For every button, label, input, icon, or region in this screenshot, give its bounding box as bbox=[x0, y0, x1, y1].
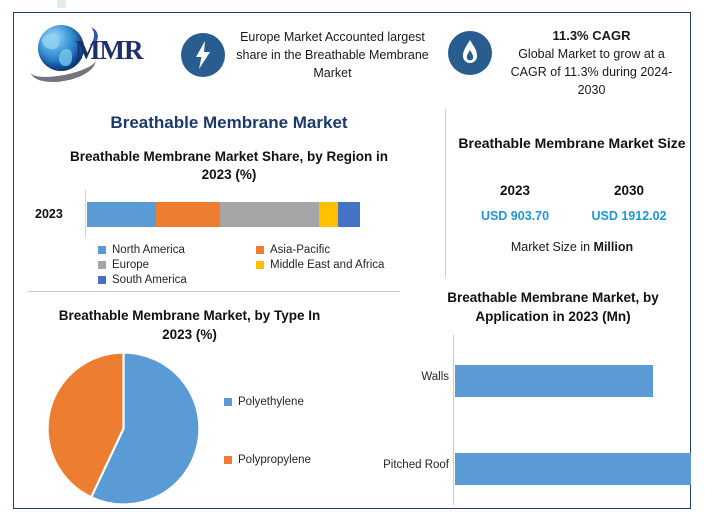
legend-label: Europe bbox=[112, 259, 149, 271]
vertical-divider bbox=[445, 109, 446, 277]
type-chart-title: Breathable Membrane Market, by Type In 2… bbox=[42, 307, 337, 345]
market-size-value-2023: USD 903.70 bbox=[458, 209, 572, 223]
region-segment bbox=[156, 202, 219, 227]
lightning-badge bbox=[181, 33, 225, 77]
application-bar-pitched-roof bbox=[455, 453, 691, 485]
mmr-logo: MMR bbox=[28, 21, 170, 77]
region-segment bbox=[338, 202, 360, 227]
type-legend: Polyethylene Polypropylene bbox=[224, 396, 311, 512]
market-size-unit-note: Market Size in Million bbox=[458, 240, 686, 254]
market-size-values: USD 903.70 USD 1912.02 bbox=[458, 209, 686, 223]
market-size-year-2030: 2030 bbox=[572, 183, 686, 198]
legend-item-south-america: South America bbox=[98, 274, 256, 286]
legend-label: Middle East and Africa bbox=[270, 259, 384, 271]
header-note-europe: Europe Market Accounted largest share in… bbox=[233, 29, 432, 82]
application-chart-plot: Walls Pitched Roof bbox=[453, 335, 694, 505]
legend-label: Asia-Pacific bbox=[270, 244, 330, 256]
cagr-heading: 11.3% CAGR bbox=[500, 27, 683, 45]
region-segment bbox=[87, 202, 156, 227]
header-band: MMR Europe Market Accounted largest shar… bbox=[14, 13, 690, 91]
application-bar-walls bbox=[455, 365, 653, 397]
legend-swatch-icon bbox=[98, 246, 106, 254]
market-size-year-2023: 2023 bbox=[458, 183, 572, 198]
infographic-frame: MMR Europe Market Accounted largest shar… bbox=[13, 12, 691, 509]
market-size-title: Breathable Membrane Market Size bbox=[458, 133, 686, 153]
legend-label: Polypropylene bbox=[238, 454, 311, 466]
page-title: Breathable Membrane Market bbox=[14, 113, 444, 133]
legend-row: Europe Middle East and Africa bbox=[98, 259, 428, 271]
legend-item-polyethylene: Polyethylene bbox=[224, 396, 311, 408]
type-pie-chart bbox=[46, 351, 201, 506]
legend-swatch-icon bbox=[224, 456, 232, 464]
legend-label: Polyethylene bbox=[238, 396, 304, 408]
cagr-badge bbox=[448, 31, 492, 75]
market-size-unit-prefix: Market Size in bbox=[511, 240, 594, 254]
legend-swatch-icon bbox=[256, 261, 264, 269]
legend-swatch-icon bbox=[224, 398, 232, 406]
top-artifact bbox=[57, 0, 66, 8]
region-segment bbox=[220, 202, 319, 227]
region-chart-plot bbox=[85, 190, 366, 238]
legend-item-asia-pacific: Asia-Pacific bbox=[256, 244, 330, 256]
application-chart-title: Breathable Membrane Market, by Applicati… bbox=[414, 289, 692, 327]
region-axis-category: 2023 bbox=[35, 207, 63, 221]
legend-swatch-icon bbox=[98, 276, 106, 284]
legend-row: North America Asia-Pacific bbox=[98, 244, 428, 256]
application-category-walls: Walls bbox=[421, 371, 449, 383]
legend-item-europe: Europe bbox=[98, 259, 256, 271]
legend-label: North America bbox=[112, 244, 185, 256]
market-size-value-2030: USD 1912.02 bbox=[572, 209, 686, 223]
lightning-bolt-icon bbox=[195, 41, 211, 69]
region-stacked-bar bbox=[87, 202, 360, 227]
header-note-cagr: 11.3% CAGR Global Market to grow at a CA… bbox=[500, 27, 683, 100]
legend-row: South America bbox=[98, 274, 428, 286]
legend-item-north-america: North America bbox=[98, 244, 256, 256]
region-legend: North America Asia-Pacific Europe Middle… bbox=[98, 244, 428, 289]
region-chart-title: Breathable Membrane Market Share, by Reg… bbox=[69, 148, 389, 184]
application-category-pitched-roof: Pitched Roof bbox=[383, 459, 449, 471]
market-size-unit: Million bbox=[594, 240, 634, 254]
legend-swatch-icon bbox=[256, 246, 264, 254]
flame-drop-icon bbox=[461, 39, 479, 67]
legend-label: South America bbox=[112, 274, 187, 286]
market-size-years: 2023 2030 bbox=[458, 183, 686, 198]
legend-item-middle-east-and-africa: Middle East and Africa bbox=[256, 259, 384, 271]
horizontal-divider bbox=[28, 291, 400, 292]
logo-text: MMR bbox=[75, 35, 142, 66]
legend-swatch-icon bbox=[98, 261, 106, 269]
region-segment bbox=[319, 202, 338, 227]
legend-item-polypropylene: Polypropylene bbox=[224, 454, 311, 466]
pie-svg bbox=[46, 351, 201, 506]
cagr-description: Global Market to grow at a CAGR of 11.3%… bbox=[511, 47, 673, 97]
